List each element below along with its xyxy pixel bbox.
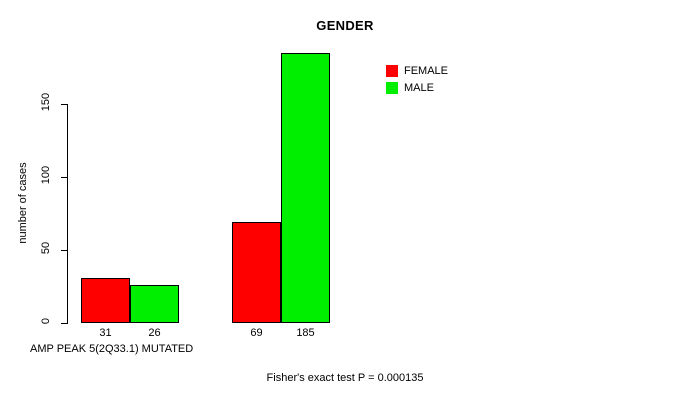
bar-value-label: 185: [281, 327, 330, 339]
legend-swatch-female-icon: [386, 65, 398, 77]
statistical-test-annotation: Fisher's exact test P = 0.000135: [0, 372, 690, 384]
bar-female-69[interactable]: [232, 222, 281, 323]
y-axis-tick-label: 100: [40, 155, 52, 195]
bar-male-26[interactable]: [130, 285, 179, 323]
y-axis-tick-label: 50: [40, 228, 52, 268]
bar-value-label: 69: [232, 327, 281, 339]
y-axis-tick-mark: [61, 177, 68, 178]
legend: FEMALE MALE: [386, 62, 448, 96]
bar-value-label: 31: [81, 327, 130, 339]
bar-male-185[interactable]: [281, 53, 330, 323]
y-axis-tick-label: 150: [40, 82, 52, 122]
y-axis-tick-mark: [61, 250, 68, 251]
y-axis-tick-label: 0: [40, 301, 52, 341]
y-axis-line: [67, 104, 68, 324]
y-axis-label: number of cases: [17, 133, 29, 273]
bar-value-label: 26: [130, 327, 179, 339]
legend-label-female: FEMALE: [404, 65, 448, 77]
legend-label-male: MALE: [404, 82, 434, 94]
legend-item-male: MALE: [386, 79, 448, 96]
legend-swatch-male-icon: [386, 82, 398, 94]
chart-canvas: GENDER number of cases 050100150 3126691…: [0, 0, 690, 400]
x-axis-group-label: AMP PEAK 5(2Q33.1) MUTATED: [30, 343, 193, 355]
chart-title: GENDER: [0, 18, 690, 33]
bar-female-31[interactable]: [81, 278, 130, 323]
y-axis-tick-mark: [61, 104, 68, 105]
legend-item-female: FEMALE: [386, 62, 448, 79]
y-axis-tick-mark: [61, 323, 68, 324]
